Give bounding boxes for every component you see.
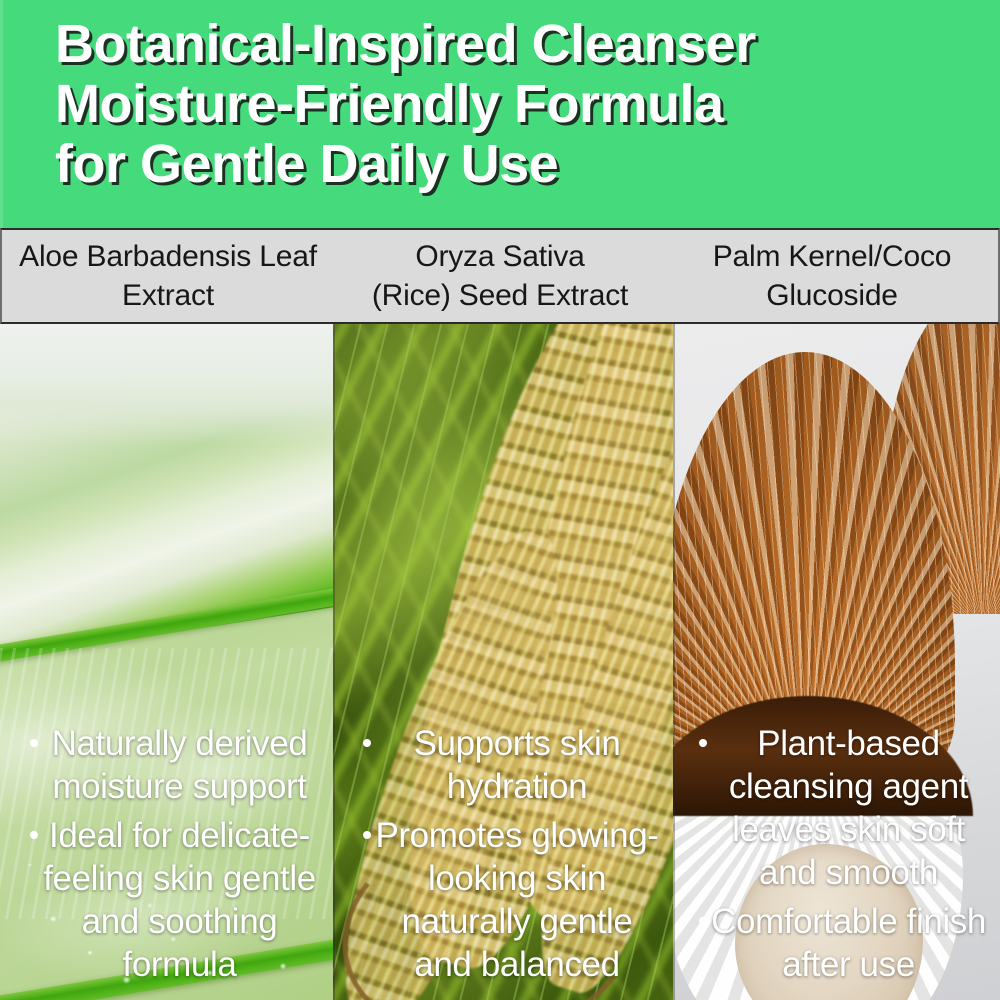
ingredient-name-band: Aloe Barbadensis Leaf Extract Oryza Sati… <box>0 228 1000 324</box>
list-item: Naturally derived moisture support <box>8 722 325 808</box>
benefit-text: Supports skin hydration <box>414 724 621 806</box>
ingredient-columns: Naturally derived moisture support Ideal… <box>0 324 1000 1000</box>
ingredient-column-coconut: Plant-based cleansing agent leaves skin … <box>673 324 1000 1000</box>
bullet-dot-icon <box>363 831 371 839</box>
benefit-text: Naturally derived moisture support <box>52 724 308 806</box>
benefit-text: Ideal for delicate-feeling skin gentle a… <box>43 816 316 984</box>
ingredient-name-aloe-line-2: Extract <box>19 276 317 315</box>
benefit-list-aloe: Naturally derived moisture support Ideal… <box>0 722 333 1000</box>
bullet-dot-icon <box>30 831 38 839</box>
benefit-text: Plant-based cleansing agent leaves skin … <box>729 724 968 892</box>
list-item: Plant-based cleansing agent leaves skin … <box>681 722 992 894</box>
bullet-dot-icon <box>30 739 38 747</box>
benefit-text: Comfortable finish after use <box>711 902 986 984</box>
benefit-list-rice: Supports skin hydration Promotes glowing… <box>333 722 673 1000</box>
bullet-dot-icon <box>699 739 707 747</box>
ingredient-name-coconut-line-2: Glucoside <box>713 276 952 315</box>
ingredient-name-rice-line-1: Oryza Sativa <box>372 237 628 276</box>
column-divider <box>333 324 335 1000</box>
ingredient-name-rice: Oryza Sativa (Rice) Seed Extract <box>334 230 666 322</box>
ingredient-name-aloe-line-1: Aloe Barbadensis Leaf <box>19 237 317 276</box>
list-item: Comfortable finish after use <box>681 900 992 986</box>
product-ingredient-infographic: Botanical-Inspired Cleanser Moisture-Fri… <box>0 0 1000 1000</box>
ingredient-column-aloe: Naturally derived moisture support Ideal… <box>0 324 333 1000</box>
title-line-2: Moisture-Friendly Formula <box>55 74 955 134</box>
list-item: Supports skin hydration <box>341 722 665 808</box>
ingredient-name-coconut: Palm Kernel/Coco Glucoside <box>666 230 998 322</box>
ingredient-column-rice: Supports skin hydration Promotes glowing… <box>333 324 673 1000</box>
page-title: Botanical-Inspired Cleanser Moisture-Fri… <box>55 14 955 194</box>
list-item: Ideal for delicate-feeling skin gentle a… <box>8 814 325 986</box>
list-item: Promotes glowing-looking skin naturally … <box>341 814 665 986</box>
title-line-3: for Gentle Daily Use <box>55 134 955 194</box>
bullet-dot-icon <box>699 917 707 925</box>
ingredient-name-aloe: Aloe Barbadensis Leaf Extract <box>2 230 334 322</box>
column-divider <box>673 324 675 1000</box>
benefit-list-coconut: Plant-based cleansing agent leaves skin … <box>673 722 1000 1000</box>
benefit-text: Promotes glowing-looking skin naturally … <box>375 816 658 984</box>
bullet-dot-icon <box>363 739 371 747</box>
hero-banner: Botanical-Inspired Cleanser Moisture-Fri… <box>0 0 1000 228</box>
title-line-1: Botanical-Inspired Cleanser <box>55 14 955 74</box>
ingredient-name-coconut-line-1: Palm Kernel/Coco <box>713 237 952 276</box>
ingredient-name-rice-line-2: (Rice) Seed Extract <box>372 276 628 315</box>
